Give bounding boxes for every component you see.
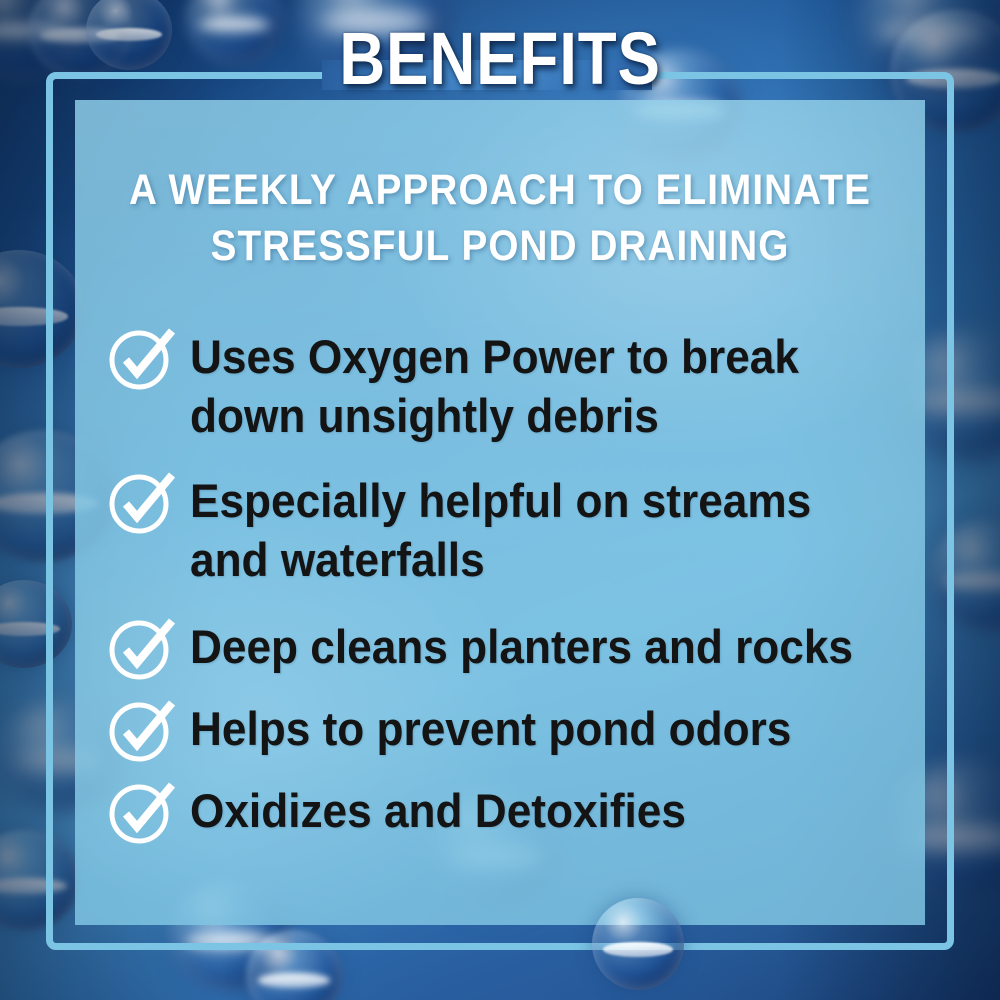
benefits-list: Uses Oxygen Power to break down unsightl…: [106, 327, 896, 851]
subtitle-line-2: STRESSFUL POND DRAINING: [118, 218, 883, 274]
benefit-item-label: Especially helpful on streams and waterf…: [190, 471, 854, 589]
check-circle-icon: [106, 613, 178, 683]
benefit-item: Helps to prevent pond odors: [106, 699, 896, 769]
check-circle-icon: [106, 777, 178, 847]
benefit-item-label: Helps to prevent pond odors: [190, 699, 854, 758]
benefits-poster: BENEFITS A WEEKLY APPROACH TO ELIMINATE …: [0, 0, 1000, 1000]
check-circle-icon: [106, 467, 178, 537]
check-circle-icon: [106, 695, 178, 765]
panel-subtitle: A WEEKLY APPROACH TO ELIMINATE STRESSFUL…: [75, 162, 925, 274]
benefit-item: Uses Oxygen Power to break down unsightl…: [106, 327, 896, 445]
benefit-item-label: Deep cleans planters and rocks: [190, 617, 854, 676]
benefit-item: Oxidizes and Detoxifies: [106, 781, 896, 851]
subtitle-line-1: A WEEKLY APPROACH TO ELIMINATE: [118, 162, 883, 218]
check-circle-icon: [106, 323, 178, 393]
benefit-item-label: Uses Oxygen Power to break down unsightl…: [190, 327, 854, 445]
page-title: BENEFITS: [70, 22, 930, 96]
water-droplet-foreground: [592, 898, 684, 990]
benefit-item: Especially helpful on streams and waterf…: [106, 471, 896, 589]
benefit-item-label: Oxidizes and Detoxifies: [190, 781, 854, 840]
benefit-item: Deep cleans planters and rocks: [106, 617, 896, 687]
